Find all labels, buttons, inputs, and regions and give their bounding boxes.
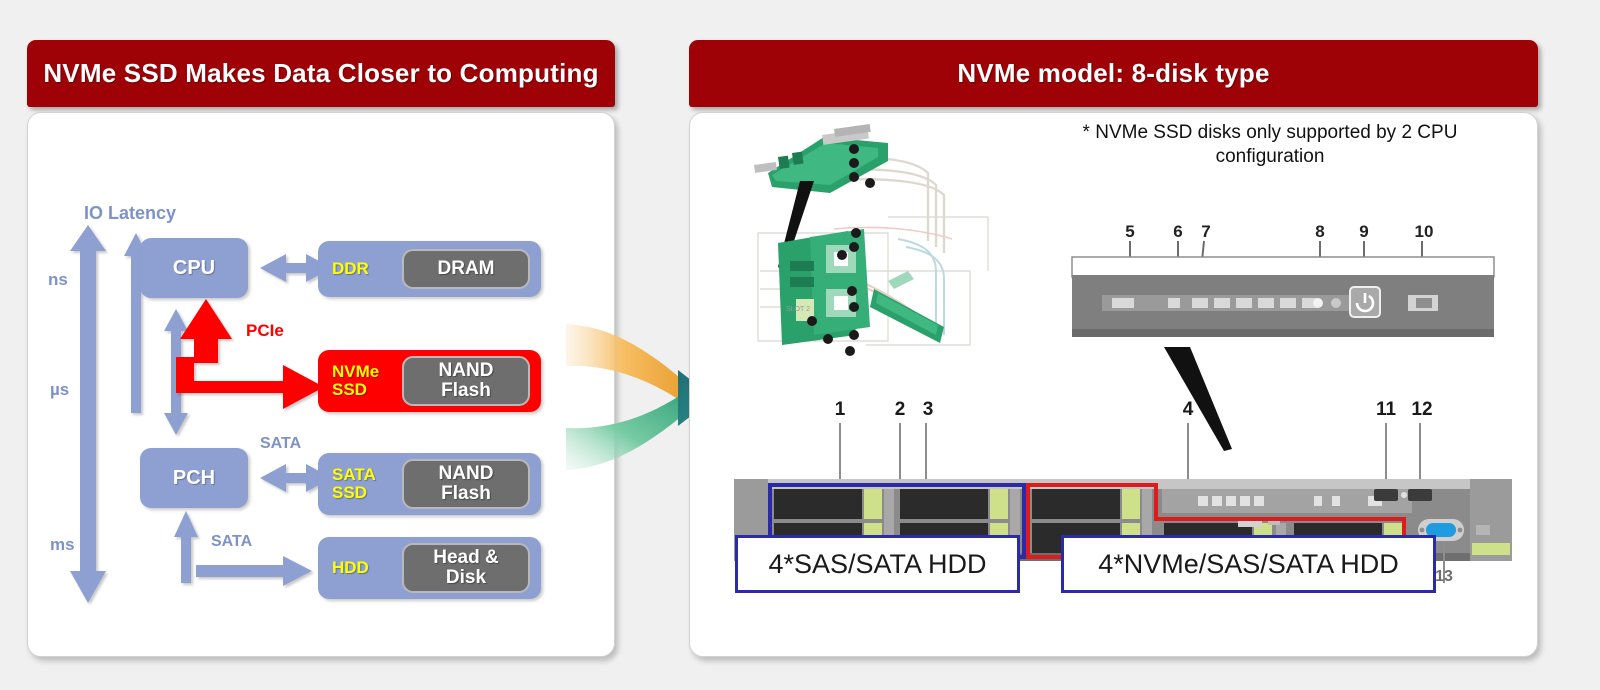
- memory-hierarchy-diagram: IO Latency ns µs ms PCIe SATA SATA CPU P…: [28, 113, 616, 658]
- rear-callout-10: 10: [1415, 223, 1434, 241]
- arrow-ribbon-orange: [566, 324, 694, 410]
- io-latency-label: IO Latency: [84, 203, 176, 224]
- latency-tick-us: µs: [50, 380, 69, 400]
- nvme-ssd-tag: NVMe SSD: [332, 363, 379, 398]
- nvme-sas-sata-hdd-label-box: 4*NVMe/SAS/SATA HDD: [1061, 535, 1436, 593]
- hdd-tag: HDD: [332, 559, 369, 577]
- slide-canvas: NVMe SSD Makes Data Closer to Computing: [0, 0, 1600, 690]
- hdd-node: HDD Head & Disk: [318, 537, 541, 599]
- right-panel-header: NVMe model: 8-disk type: [689, 40, 1538, 107]
- cpu-label: CPU: [140, 257, 248, 280]
- nvme-sas-sata-hdd-label: 4*NVMe/SAS/SATA HDD: [1098, 549, 1399, 580]
- left-panel-title: NVMe SSD Makes Data Closer to Computing: [43, 58, 598, 89]
- sas-sata-hdd-label-box: 4*SAS/SATA HDD: [735, 535, 1020, 593]
- right-panel-title: NVMe model: 8-disk type: [957, 58, 1269, 89]
- sata-hdd-link-label: SATA: [211, 533, 252, 551]
- rear-callout-9: 9: [1359, 223, 1368, 241]
- rear-callout-7: 7: [1201, 223, 1210, 241]
- pcb-slot-label: SLOT 2: [786, 306, 810, 313]
- dram-chip: DRAM: [402, 249, 530, 289]
- server-model-diagram: * NVMe SSD disks only supported by 2 CPU…: [690, 113, 1539, 658]
- sata-ssd-node: SATA SSD NAND Flash: [318, 453, 541, 515]
- front-callout-2: 2: [895, 399, 906, 420]
- nvme-support-note: * NVMe SSD disks only supported by 2 CPU…: [1035, 121, 1505, 170]
- front-callout-3: 3: [923, 399, 934, 420]
- pch-label: PCH: [140, 467, 248, 490]
- nvme-nand-flash-chip: NAND Flash: [402, 356, 530, 406]
- front-callout-13: 13: [1435, 568, 1453, 585]
- pcie-link-label: PCIe: [246, 321, 284, 341]
- sata-ssd-tag: SATA SSD: [332, 466, 376, 501]
- front-callout-11: 11: [1376, 399, 1397, 420]
- left-panel-body: IO Latency ns µs ms PCIe SATA SATA CPU P…: [27, 112, 615, 657]
- nvme-ssd-node: NVMe SSD NAND Flash: [318, 350, 541, 412]
- front-callout-1: 1: [835, 399, 846, 420]
- pch-node: PCH: [140, 448, 248, 508]
- ddr-tag: DDR: [332, 260, 369, 278]
- motherboard-cabling-image: SLOT 2: [738, 121, 1026, 361]
- ddr-dram-node: DDR DRAM: [318, 241, 541, 297]
- front-callout-4: 4: [1183, 399, 1194, 420]
- sas-sata-hdd-label: 4*SAS/SATA HDD: [768, 549, 986, 580]
- cpu-node: CPU: [140, 238, 248, 298]
- sata-ssd-link-label: SATA: [260, 435, 301, 453]
- hdd-head-disk-chip: Head & Disk: [402, 543, 530, 593]
- sata-nand-flash-chip: NAND Flash: [402, 459, 530, 509]
- front-callout-12: 12: [1411, 399, 1432, 420]
- right-panel-body: * NVMe SSD disks only supported by 2 CPU…: [689, 112, 1538, 657]
- rear-callout-6: 6: [1173, 223, 1182, 241]
- arrow-ribbon-green: [566, 386, 694, 470]
- latency-tick-ns: ns: [48, 270, 68, 290]
- rear-callout-8: 8: [1315, 223, 1324, 241]
- latency-tick-ms: ms: [50, 535, 75, 555]
- server-rear-panel-image: 5 6 7 8 9 10: [1068, 223, 1498, 363]
- rear-callout-5: 5: [1125, 223, 1134, 241]
- left-panel-header: NVMe SSD Makes Data Closer to Computing: [27, 40, 615, 107]
